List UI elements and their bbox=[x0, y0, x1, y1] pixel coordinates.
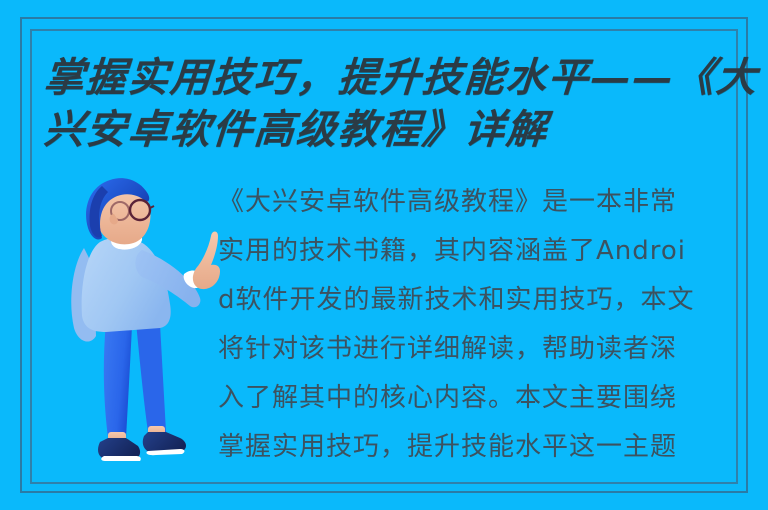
body-line-3: d软件开发的最新技术和实用技巧，本文 bbox=[218, 276, 728, 325]
title-line-1: 掌握实用技巧，提升技能水平——《大 bbox=[42, 52, 736, 104]
poster-title: 掌握实用技巧，提升技能水平——《大 兴安卓软件高级教程》详解 bbox=[44, 52, 734, 156]
title-line-2: 兴安卓软件高级教程》详解 bbox=[42, 104, 736, 156]
poster-body-text: 《大兴安卓软件高级教程》是一本非常 实用的技术书籍，其内容涵盖了Androi d… bbox=[218, 178, 728, 472]
body-line-2: 实用的技术书籍，其内容涵盖了Androi bbox=[218, 227, 728, 276]
sweater-shape bbox=[82, 237, 171, 332]
body-line-6: 掌握实用技巧，提升技能水平这一主题 bbox=[218, 423, 728, 472]
body-line-4: 将针对该书进行详细解读，帮助读者深 bbox=[218, 325, 728, 374]
left-shoe-sole bbox=[101, 456, 141, 461]
man-pointing-illustration bbox=[48, 170, 228, 470]
pointing-hand-shape bbox=[193, 232, 220, 290]
left-leg-shape bbox=[104, 322, 132, 438]
body-line-5: 入了解其中的核心内容。本文主要围绕 bbox=[218, 374, 728, 423]
left-shoe-shape bbox=[98, 438, 140, 459]
body-line-1: 《大兴安卓软件高级教程》是一本非常 bbox=[218, 178, 728, 227]
right-leg-shape bbox=[136, 322, 166, 432]
poster-canvas: 掌握实用技巧，提升技能水平——《大 兴安卓软件高级教程》详解 bbox=[0, 0, 768, 510]
